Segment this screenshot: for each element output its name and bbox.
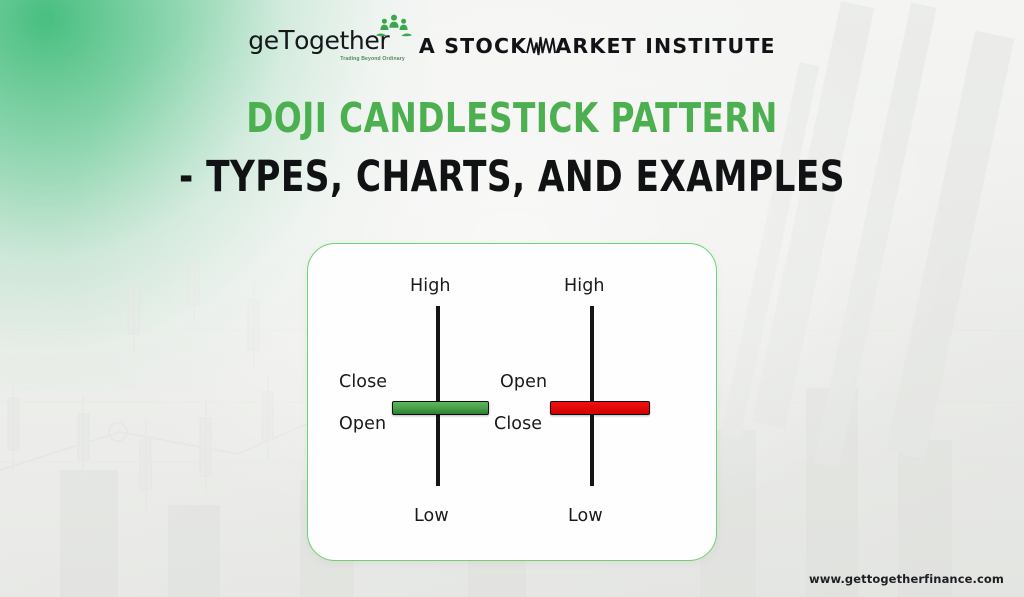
bull-close-label: Close (339, 372, 387, 392)
people-plant-icon (374, 13, 414, 37)
title-line-2: - TYPES, CHARTS, AND EXAMPLES (102, 156, 921, 199)
bull-low-label: Low (414, 506, 449, 526)
brand-logo[interactable]: geTogether Trading Beyond Ordinary (248, 22, 405, 62)
bull-body (392, 401, 489, 415)
bear-open-label: Open (500, 372, 547, 392)
brand-name-prefix: ge (248, 26, 278, 55)
page-title: DOJI CANDLESTICK PATTERN - TYPES, CHARTS… (0, 98, 1024, 199)
bear-body (550, 401, 650, 415)
brand-tagline: Trading Beyond Ordinary (340, 56, 405, 62)
candles-container: High Close Open Low High Open Close Low (308, 244, 716, 560)
title-line-1: DOJI CANDLESTICK PATTERN (102, 98, 921, 139)
bear-close-label: Close (494, 414, 542, 434)
institute-text-before: A STOCK (419, 34, 528, 58)
bull-wick (436, 306, 440, 486)
heartbeat-m-icon (526, 35, 556, 57)
institute-tagline: A STOCK ARKET INSTITUTE (419, 34, 776, 62)
bear-low-label: Low (568, 506, 603, 526)
brand-name-cap: T (279, 26, 294, 56)
bearish-candle: High Open Close Low (498, 244, 698, 560)
bear-high-label: High (564, 276, 605, 296)
bull-high-label: High (410, 276, 451, 296)
bull-open-label: Open (339, 414, 386, 434)
candlestick-diagram-card: High Close Open Low High Open Close Low (307, 243, 717, 561)
brand-wordmark: geTogether (248, 28, 389, 54)
footer-website-url[interactable]: www.gettogetherfinance.com (809, 572, 1004, 586)
institute-text-after: ARKET INSTITUTE (555, 34, 775, 58)
poster-canvas: geTogether Trading Beyond Ordinary A STO… (0, 0, 1024, 597)
bear-wick (590, 306, 594, 486)
header-logo-row: geTogether Trading Beyond Ordinary A STO… (0, 22, 1024, 62)
